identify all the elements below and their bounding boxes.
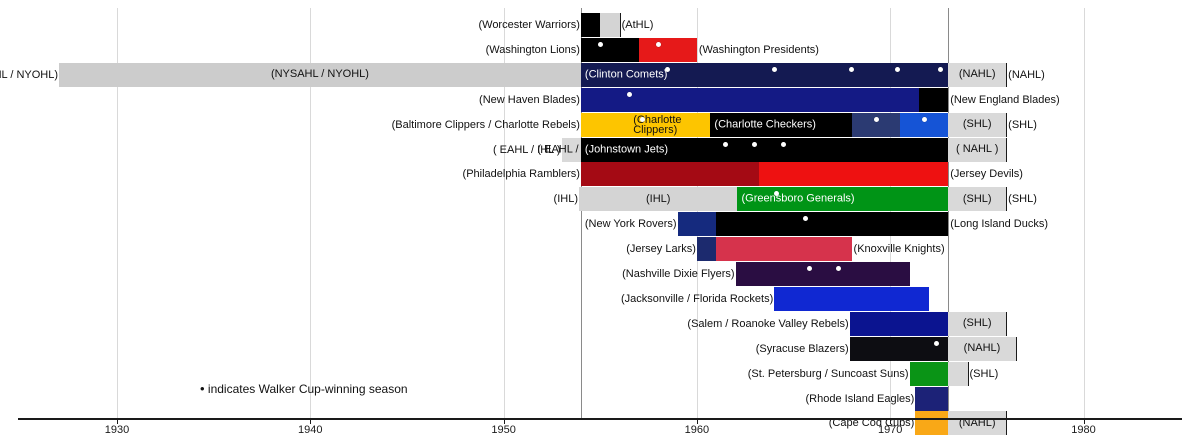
walker-cup-marker: [656, 42, 661, 47]
timeline-segment[interactable]: (NYSAHL / NYOHL): [59, 63, 581, 87]
segment-label: (SHL): [963, 318, 992, 329]
timeline-row: (Jersey Larks)(Knoxville Knights): [0, 237, 1200, 261]
league-end-tick: [1006, 187, 1007, 211]
walker-cup-marker: [774, 191, 779, 196]
segment-label: (NAHL): [959, 69, 996, 80]
league-end-tick: [1006, 138, 1007, 162]
timeline-row: (New York Rovers)(Long Island Ducks): [0, 212, 1200, 236]
walker-cup-marker: [640, 117, 645, 122]
timeline-row: (NAHL)(Syracuse Blazers): [0, 337, 1200, 361]
walker-cup-marker: [598, 42, 603, 47]
league-end-tick: [1006, 113, 1007, 137]
segment-label: (Clinton Comets): [585, 69, 668, 80]
timeline-segment[interactable]: (IHL): [579, 187, 738, 211]
league-end-tick: [620, 13, 621, 37]
timeline-row: (NYSAHL / NYOHL)(Clinton Comets)(NAHL)(N…: [0, 63, 1200, 87]
plot-area: (Worcester Warriors)(AtHL)(Washington Li…: [0, 0, 1200, 418]
row-left-label: (Syracuse Blazers): [756, 343, 849, 355]
league-end-tick: [968, 362, 969, 386]
timeline-segment[interactable]: [850, 337, 949, 361]
timeline-segment[interactable]: [581, 13, 600, 37]
segment-label: (SHL): [963, 194, 992, 205]
segment-label: (Johnstown Jets): [585, 144, 668, 155]
walker-cup-marker: [807, 266, 812, 271]
walker-cup-marker: [874, 117, 879, 122]
row-left-label: (Washington Lions): [486, 44, 580, 56]
row-left-label: (New York Rovers): [585, 218, 677, 230]
x-tick-label-1960: 1960: [685, 424, 709, 436]
row-left-label: (IHL): [554, 193, 578, 205]
timeline-segment[interactable]: (Clinton Comets): [581, 63, 948, 87]
x-axis-line: [18, 418, 1182, 420]
timeline-row: (Nashville Dixie Flyers): [0, 262, 1200, 286]
timeline-row: ( EAHL / IHL )(Johnstown Jets)( NAHL )( …: [0, 138, 1200, 162]
row-right-label: (New England Blades): [950, 94, 1059, 106]
row-right-label: (Washington Presidents): [699, 44, 819, 56]
row-left-label: (Jersey Larks): [626, 243, 696, 255]
timeline-row: (NAHL)(Cape Cod Cubs): [0, 411, 1200, 435]
league-end-tick: [1006, 411, 1007, 435]
segment-label: (SHL): [963, 119, 992, 130]
timeline-row: (Charlotte Clippers)(Charlotte Checkers)…: [0, 113, 1200, 137]
row-left-label: (Salem / Roanoke Valley Rebels): [687, 318, 848, 330]
timeline-segment[interactable]: [581, 113, 629, 137]
row-left-label: ( EAHL / IHL ): [493, 144, 561, 156]
timeline-segment[interactable]: [919, 88, 948, 112]
timeline-segment[interactable]: (Charlotte Checkers): [710, 113, 851, 137]
timeline-row: (Washington Lions)(Washington Presidents…: [0, 38, 1200, 62]
walker-cup-marker: [781, 142, 786, 147]
legend-text: indicates Walker Cup-winning season: [208, 382, 408, 396]
timeline-segment[interactable]: [697, 237, 716, 261]
segment-label: (IHL): [646, 194, 670, 205]
segment-label: (NYSAHL / NYOHL): [271, 69, 369, 80]
row-right-label: (Knoxville Knights): [854, 243, 945, 255]
x-tick-label-1940: 1940: [298, 424, 322, 436]
timeline-row: (St. Petersburg / Suncoast Suns)(SHL): [0, 362, 1200, 386]
row-left-label: (Rhode Island Eagles): [806, 393, 915, 405]
timeline-segment[interactable]: [774, 287, 929, 311]
timeline-segment[interactable]: [759, 162, 948, 186]
timeline-segment[interactable]: [678, 212, 717, 236]
timeline-row: (Rhode Island Eagles): [0, 387, 1200, 411]
timeline-segment[interactable]: [716, 237, 851, 261]
row-right-label: (Jersey Devils): [950, 168, 1023, 180]
legend-bullet-icon: •: [200, 381, 205, 396]
row-right-label: (SHL): [1008, 193, 1037, 205]
row-right-label: (SHL): [1008, 119, 1037, 131]
timeline-segment[interactable]: [850, 312, 949, 336]
walker-cup-marker: [772, 67, 777, 72]
timeline-segment[interactable]: [581, 162, 759, 186]
timeline-segment[interactable]: (NAHL): [948, 63, 1006, 87]
row-left-label: (St. Petersburg / Suncoast Suns): [748, 368, 909, 380]
walker-cup-marker: [803, 216, 808, 221]
segment-label: (Greensboro Generals): [741, 194, 854, 205]
walker-cup-marker: [723, 142, 728, 147]
timeline-segment[interactable]: [581, 38, 639, 62]
timeline-segment[interactable]: [639, 38, 697, 62]
x-tick-label-1950: 1950: [491, 424, 515, 436]
row-left-label: (Baltimore Clippers / Charlotte Rebels): [392, 119, 580, 131]
walker-cup-marker: [934, 341, 939, 346]
row-right-label: (SHL): [970, 368, 999, 380]
timeline-segment[interactable]: [581, 88, 919, 112]
segment-label: ( NAHL ): [956, 144, 998, 155]
timeline-row: (Philadelphia Ramblers)(Jersey Devils): [0, 162, 1200, 186]
x-tick-label-1980: 1980: [1071, 424, 1095, 436]
row-left-label: (NYSAHL / NYOHL): [0, 69, 58, 81]
row-right-label: (Long Island Ducks): [950, 218, 1048, 230]
timeline-segment[interactable]: [716, 212, 948, 236]
x-tick-label-1930: 1930: [105, 424, 129, 436]
row-left-label: (Jacksonville / Florida Rockets): [621, 293, 773, 305]
x-tick-label-1970: 1970: [878, 424, 902, 436]
timeline-segment[interactable]: [948, 362, 967, 386]
timeline-segment[interactable]: (NAHL): [948, 411, 1006, 435]
league-end-tick: [1006, 312, 1007, 336]
timeline-segment[interactable]: (SHL): [948, 312, 1006, 336]
timeline-segment[interactable]: [736, 262, 910, 286]
row-left-label: (New Haven Blades): [479, 94, 580, 106]
row-left-label: (Philadelphia Ramblers): [463, 168, 580, 180]
walker-cup-marker: [938, 67, 943, 72]
timeline-chart: (Worcester Warriors)(AtHL)(Washington Li…: [0, 0, 1200, 440]
timeline-segment[interactable]: (NAHL): [948, 337, 1016, 361]
segment-label: (Charlotte Checkers): [714, 119, 815, 130]
timeline-row: (Jacksonville / Florida Rockets): [0, 287, 1200, 311]
timeline-row: (IHL)(Greensboro Generals)(SHL)(IHL)(SHL…: [0, 187, 1200, 211]
timeline-segment[interactable]: ( NAHL ): [948, 138, 1006, 162]
row-left-label: (Worcester Warriors): [478, 19, 579, 31]
row-right-label: (NAHL): [1008, 69, 1045, 81]
timeline-segment[interactable]: ( EAHL / IHL ): [562, 138, 581, 162]
row-right-label: (AtHL): [622, 19, 654, 31]
timeline-segment[interactable]: (SHL): [948, 113, 1006, 137]
row-left-label: (Nashville Dixie Flyers): [622, 268, 734, 280]
legend-note: • indicates Walker Cup-winning season: [200, 381, 408, 396]
league-end-tick: [1006, 63, 1007, 87]
timeline-segment[interactable]: [915, 387, 948, 411]
timeline-segment[interactable]: [600, 13, 619, 37]
timeline-segment[interactable]: (Greensboro Generals): [737, 187, 948, 211]
timeline-row: (SHL)(Salem / Roanoke Valley Rebels): [0, 312, 1200, 336]
timeline-row: (Worcester Warriors)(AtHL): [0, 13, 1200, 37]
walker-cup-marker: [836, 266, 841, 271]
timeline-segment[interactable]: [910, 362, 949, 386]
walker-cup-marker: [849, 67, 854, 72]
timeline-segment[interactable]: (SHL): [948, 187, 1006, 211]
timeline-segment[interactable]: [915, 411, 948, 435]
timeline-segment[interactable]: (Johnstown Jets): [581, 138, 948, 162]
walker-cup-marker: [627, 92, 632, 97]
segment-label: (NAHL): [964, 343, 1001, 354]
walker-cup-marker: [752, 142, 757, 147]
timeline-row: (New Haven Blades)(New England Blades): [0, 88, 1200, 112]
league-end-tick: [1016, 337, 1017, 361]
